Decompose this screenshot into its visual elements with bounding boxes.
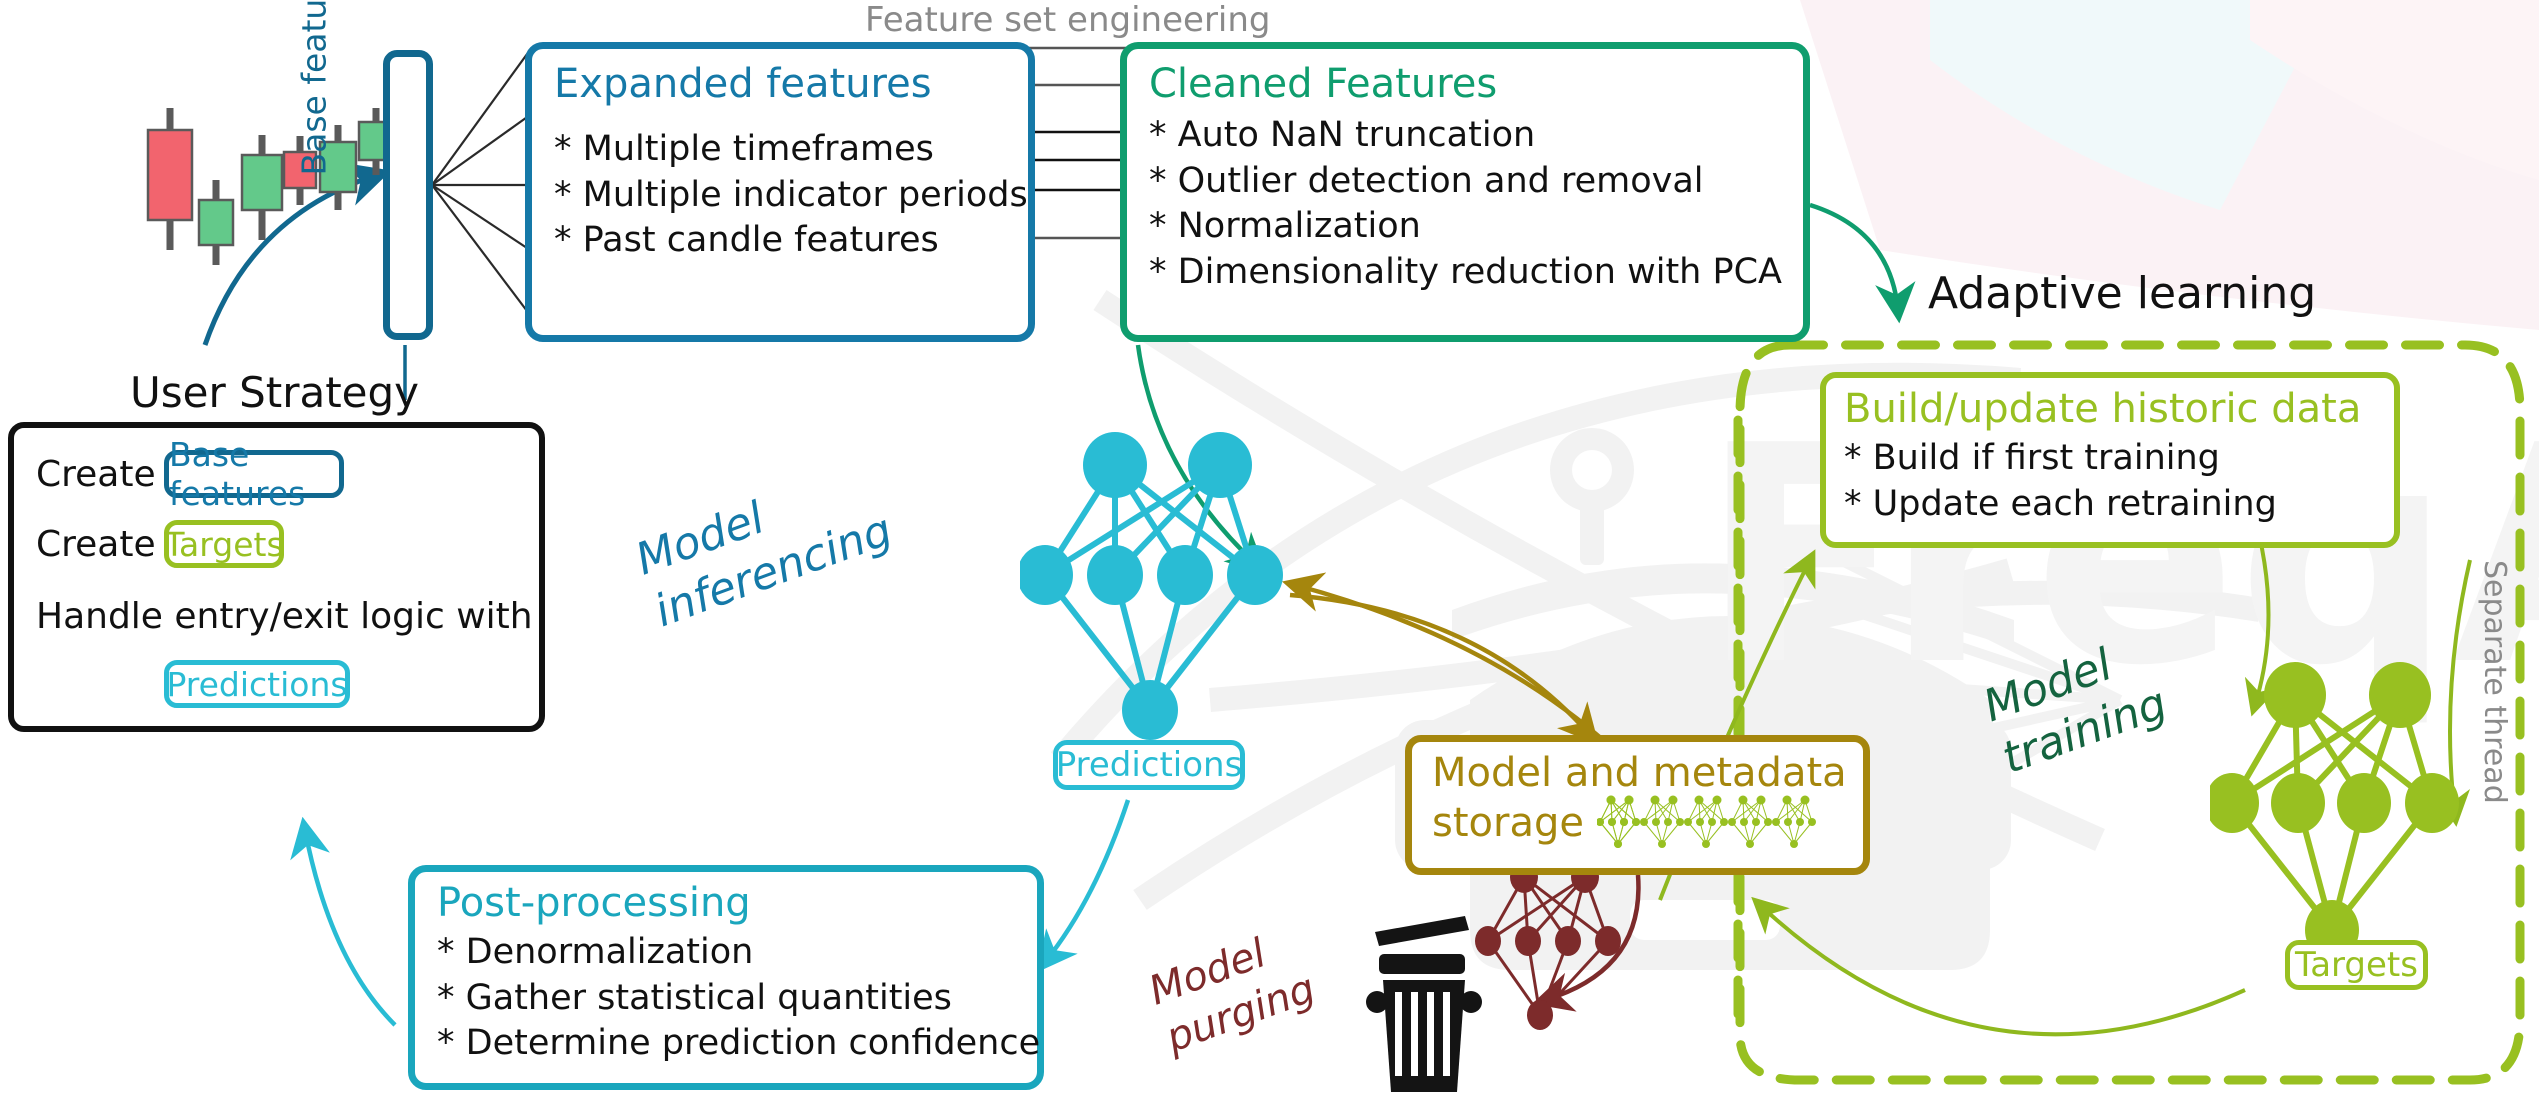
training-neural-network-icon xyxy=(2210,655,2500,985)
bullet: * Multiple timeframes xyxy=(554,127,1028,173)
inference-neural-network-icon xyxy=(1020,420,1320,780)
base-features-pill[interactable]: Base features xyxy=(383,50,433,340)
targets-pill-inline[interactable]: Targets xyxy=(164,520,284,568)
user-strategy-entry-exit: Handle entry/exit logic with xyxy=(36,596,533,637)
targets-pill-label: Targets xyxy=(164,525,283,564)
bullet: * Determine prediction confidence xyxy=(437,1021,1037,1067)
model-storage-title-1: Model and metadata xyxy=(1432,750,1847,796)
predictions-pill-inline[interactable]: Predictions xyxy=(164,660,350,708)
post-processing-title: Post-processing xyxy=(437,882,1037,924)
bullet: * Normalization xyxy=(1149,204,1803,250)
base-features-pill-label: Base features xyxy=(169,435,339,513)
user-strategy-create-1: Create xyxy=(36,454,156,495)
candlestick-chart xyxy=(145,70,410,340)
historic-data-bullets: * Build if first training * Update each … xyxy=(1844,436,2394,527)
model-storage-box[interactable]: Model and metadata storage xyxy=(1405,735,1870,875)
cleaned-features-bullets: * Auto NaN truncation * Outlier detectio… xyxy=(1149,113,1803,295)
cleaned-features-title: Cleaned Features xyxy=(1149,63,1803,105)
user-strategy-box[interactable]: Create Base features Create Targets Hand… xyxy=(8,422,545,732)
expanded-features-title: Expanded features xyxy=(554,63,1028,105)
diagram-canvas: FreqAI xyxy=(0,0,2539,1104)
bullet: * Auto NaN truncation xyxy=(1149,113,1803,159)
stacked-neural-networks-icon xyxy=(1597,792,1847,852)
user-strategy-title: User Strategy xyxy=(130,368,419,417)
purged-neural-network-icon xyxy=(1470,855,1650,1055)
predictions-pill[interactable]: Predictions xyxy=(1053,740,1245,790)
base-features-pill-inline[interactable]: Base features xyxy=(164,450,344,498)
feature-set-engineering-label: Feature set engineering xyxy=(865,0,1271,40)
user-strategy-create-2: Create xyxy=(36,524,156,565)
predictions-pill-label: Predictions xyxy=(166,665,347,704)
model-storage-title-2: storage xyxy=(1432,800,1584,846)
historic-data-title: Build/update historic data xyxy=(1844,386,2394,432)
post-processing-box[interactable]: Post-processing * Denormalization * Gath… xyxy=(408,865,1044,1090)
expanded-features-bullets: * Multiple timeframes * Multiple indicat… xyxy=(554,127,1028,264)
post-processing-bullets: * Denormalization * Gather statistical q… xyxy=(437,930,1037,1067)
trash-can-icon xyxy=(1365,910,1485,1100)
bullet: * Denormalization xyxy=(437,930,1037,976)
targets-pill[interactable]: Targets xyxy=(2285,940,2428,990)
bullet: * Build if first training xyxy=(1844,436,2394,482)
bullet: * Update each retraining xyxy=(1844,482,2394,528)
bullet: * Outlier detection and removal xyxy=(1149,159,1803,205)
cleaned-features-box[interactable]: Cleaned Features * Auto NaN truncation *… xyxy=(1120,42,1810,342)
historic-data-box[interactable]: Build/update historic data * Build if fi… xyxy=(1820,372,2400,548)
adaptive-learning-title: Adaptive learning xyxy=(1928,268,2316,319)
predictions-pill-text: Predictions xyxy=(1056,745,1243,785)
bullet: * Gather statistical quantities xyxy=(437,976,1037,1022)
expanded-features-box[interactable]: Expanded features * Multiple timeframes … xyxy=(525,42,1035,342)
base-features-label: Base features xyxy=(294,0,333,176)
bullet: * Past candle features xyxy=(554,218,1028,264)
bullet: * Dimensionality reduction with PCA xyxy=(1149,250,1803,296)
bullet: * Multiple indicator periods xyxy=(554,173,1028,219)
targets-pill-text: Targets xyxy=(2295,945,2418,985)
